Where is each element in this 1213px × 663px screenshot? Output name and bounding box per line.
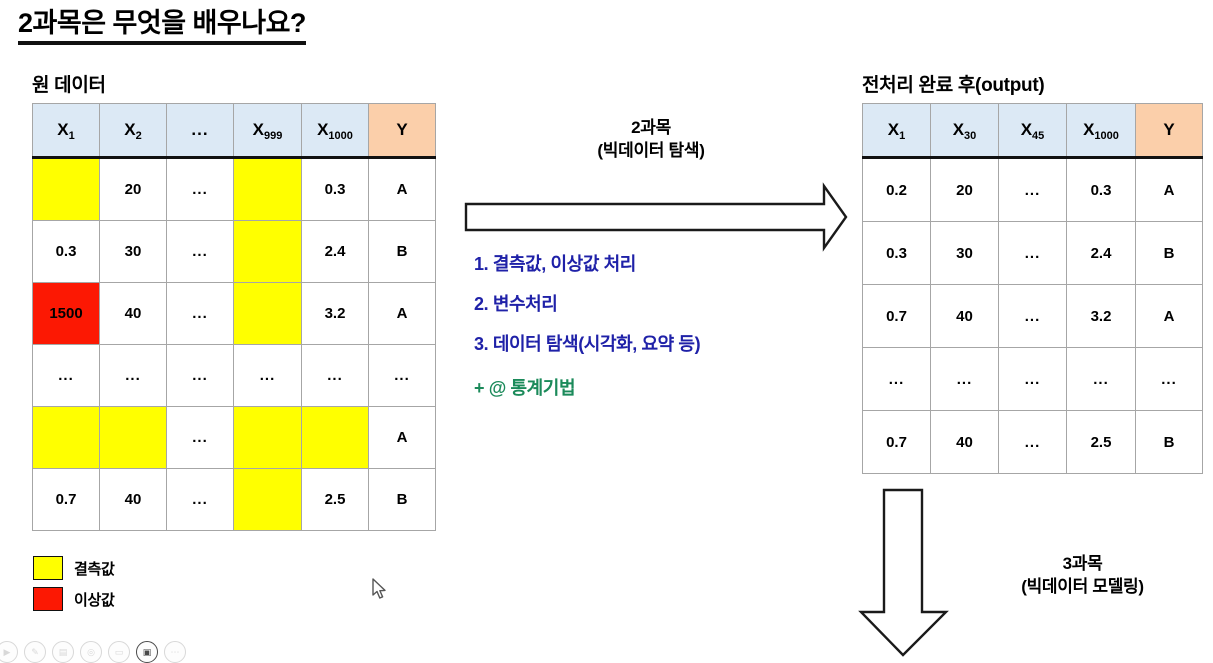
table-row: 0.7 40 ... 3.2 A bbox=[863, 285, 1203, 348]
table-cell: ... bbox=[931, 348, 999, 411]
table-cell: B bbox=[369, 221, 436, 283]
table-cell: ... bbox=[1067, 348, 1136, 411]
table-cell: ... bbox=[999, 285, 1067, 348]
header-sub: 1000 bbox=[328, 130, 352, 142]
process-step-2: 2. 변수처리 bbox=[474, 290, 874, 318]
table-cell: ... bbox=[302, 345, 369, 407]
column-header-ellipsis: ... bbox=[167, 104, 234, 158]
table-cell: 0.7 bbox=[33, 469, 100, 531]
table-cell: A bbox=[1136, 158, 1203, 222]
header-sub: 1 bbox=[899, 130, 905, 142]
header-sub: 1 bbox=[69, 130, 75, 142]
down-arrow-icon bbox=[856, 486, 966, 658]
table-cell: ... bbox=[167, 221, 234, 283]
column-header-y: Y bbox=[1136, 104, 1203, 158]
table-cell: ... bbox=[167, 345, 234, 407]
header-sub: 45 bbox=[1032, 130, 1044, 142]
page-title: 2과목은 무엇을 배우나요? bbox=[18, 6, 306, 45]
header-base: X bbox=[1083, 120, 1094, 139]
table-cell: 3.2 bbox=[1067, 285, 1136, 348]
pen-icon[interactable]: ✎ bbox=[24, 641, 46, 663]
process-step-1: 1. 결측값, 이상값 처리 bbox=[474, 250, 874, 278]
table-cell: 40 bbox=[100, 469, 167, 531]
column-header-x1000: X1000 bbox=[302, 104, 369, 158]
table-cell: 3.2 bbox=[302, 283, 369, 345]
modeling-arrow-label-line2: (빅데이터 모델링) bbox=[960, 575, 1205, 598]
table-cell: 20 bbox=[100, 158, 167, 221]
header-base: ... bbox=[191, 120, 208, 139]
table-cell: B bbox=[369, 469, 436, 531]
legend-label: 결측값 bbox=[74, 558, 115, 579]
table-cell bbox=[234, 283, 302, 345]
header-sub: 1000 bbox=[1094, 130, 1118, 142]
right-arrow-icon bbox=[462, 182, 850, 252]
legend-item-missing: 결측값 bbox=[33, 556, 115, 580]
table-row: 0.3 30 ... 2.4 B bbox=[863, 222, 1203, 285]
table-cell: 0.3 bbox=[302, 158, 369, 221]
play-icon[interactable]: ▶ bbox=[0, 641, 18, 663]
table-cell: ... bbox=[999, 348, 1067, 411]
table-row: 0.7 40 ... 2.5 B bbox=[863, 411, 1203, 474]
process-step-3: 3. 데이터 탐색(시각화, 요약 등) bbox=[474, 330, 874, 358]
column-header-x999: X999 bbox=[234, 104, 302, 158]
process-arrow-label: 2과목 (빅데이터 탐색) bbox=[516, 116, 786, 162]
table-cell: 2.5 bbox=[1067, 411, 1136, 474]
header-base: Y bbox=[396, 120, 407, 139]
table-cell: 0.7 bbox=[863, 285, 931, 348]
output-data-caption: 전처리 완료 후(output) bbox=[862, 70, 1044, 97]
process-arrow-label-line2: (빅데이터 탐색) bbox=[516, 139, 786, 162]
table-cell: B bbox=[1136, 222, 1203, 285]
subtitle-icon[interactable]: ▭ bbox=[108, 641, 130, 663]
table-row: 1500 40 ... 3.2 A bbox=[33, 283, 436, 345]
table-row: 0.2 20 ... 0.3 A bbox=[863, 158, 1203, 222]
legend-label: 이상값 bbox=[74, 589, 115, 610]
record-icon[interactable]: ◎ bbox=[80, 641, 102, 663]
table-cell bbox=[33, 407, 100, 469]
table-header-row: X1 X30 X45 X1000 Y bbox=[863, 104, 1203, 158]
legend-item-outlier: 이상값 bbox=[33, 587, 115, 611]
table-cell: 40 bbox=[931, 411, 999, 474]
header-base: X bbox=[888, 120, 899, 139]
header-sub: 999 bbox=[264, 130, 282, 142]
table-cell: 40 bbox=[100, 283, 167, 345]
header-base: X bbox=[124, 120, 135, 139]
table-cell: ... bbox=[863, 348, 931, 411]
process-step-extra: + @ 통계기법 bbox=[474, 374, 874, 402]
table-cell: 0.3 bbox=[33, 221, 100, 283]
table-cell bbox=[234, 469, 302, 531]
table-cell: 30 bbox=[931, 222, 999, 285]
save-icon[interactable]: ▤ bbox=[52, 641, 74, 663]
column-header-x1: X1 bbox=[863, 104, 931, 158]
mouse-cursor-icon bbox=[371, 578, 389, 602]
table-cell bbox=[33, 158, 100, 221]
header-base: Y bbox=[1163, 120, 1174, 139]
table-cell: 2.4 bbox=[302, 221, 369, 283]
more-icon[interactable]: ⋯ bbox=[164, 641, 186, 663]
modeling-arrow-label: 3과목 (빅데이터 모델링) bbox=[960, 552, 1205, 598]
header-base: X bbox=[317, 120, 328, 139]
table-cell: A bbox=[1136, 285, 1203, 348]
column-header-x1000: X1000 bbox=[1067, 104, 1136, 158]
header-base: X bbox=[253, 120, 264, 139]
table-cell: ... bbox=[234, 345, 302, 407]
table-cell: 0.2 bbox=[863, 158, 931, 222]
table-cell: ... bbox=[999, 158, 1067, 222]
table-row: ... ... ... ... ... ... bbox=[33, 345, 436, 407]
table-cell-outlier: 1500 bbox=[33, 283, 100, 345]
table-cell: 20 bbox=[931, 158, 999, 222]
table-cell bbox=[100, 407, 167, 469]
table-row: 0.7 40 ... 2.5 B bbox=[33, 469, 436, 531]
process-steps-list: 1. 결측값, 이상값 처리 2. 변수처리 3. 데이터 탐색(시각화, 요약… bbox=[474, 250, 874, 402]
video-camera-icon[interactable]: ▣ bbox=[136, 641, 158, 663]
table-row: ... ... ... ... ... bbox=[863, 348, 1203, 411]
bottom-toolbar[interactable]: ▶ ✎ ▤ ◎ ▭ ▣ ⋯ bbox=[0, 641, 186, 663]
header-sub: 2 bbox=[136, 130, 142, 142]
header-base: X bbox=[1021, 120, 1032, 139]
table-row: ... A bbox=[33, 407, 436, 469]
raw-data-table: X1 X2 ... X999 X1000 Y 20 ... 0.3 A 0.3 … bbox=[32, 103, 436, 531]
table-row: 20 ... 0.3 A bbox=[33, 158, 436, 221]
output-data-table: X1 X30 X45 X1000 Y 0.2 20 ... 0.3 A 0.3 … bbox=[862, 103, 1203, 474]
table-cell: 0.3 bbox=[1067, 158, 1136, 222]
table-cell: 30 bbox=[100, 221, 167, 283]
table-header-row: X1 X2 ... X999 X1000 Y bbox=[33, 104, 436, 158]
table-cell: ... bbox=[1136, 348, 1203, 411]
table-cell: 2.5 bbox=[302, 469, 369, 531]
column-header-x45: X45 bbox=[999, 104, 1067, 158]
table-cell: ... bbox=[167, 158, 234, 221]
table-row: 0.3 30 ... 2.4 B bbox=[33, 221, 436, 283]
table-cell: ... bbox=[167, 283, 234, 345]
table-cell: 0.7 bbox=[863, 411, 931, 474]
column-header-x1: X1 bbox=[33, 104, 100, 158]
table-cell: ... bbox=[999, 222, 1067, 285]
table-cell: ... bbox=[33, 345, 100, 407]
table-cell: ... bbox=[999, 411, 1067, 474]
modeling-arrow-label-line1: 3과목 bbox=[960, 552, 1205, 575]
raw-data-caption: 원 데이터 bbox=[32, 70, 106, 97]
table-cell: ... bbox=[369, 345, 436, 407]
table-cell: 0.3 bbox=[863, 222, 931, 285]
legend: 결측값 이상값 bbox=[33, 556, 115, 618]
table-cell: B bbox=[1136, 411, 1203, 474]
table-cell bbox=[234, 407, 302, 469]
table-cell: A bbox=[369, 407, 436, 469]
missing-value-swatch bbox=[33, 556, 63, 580]
table-cell: ... bbox=[100, 345, 167, 407]
header-base: X bbox=[953, 120, 964, 139]
outlier-swatch bbox=[33, 587, 63, 611]
header-base: X bbox=[57, 120, 68, 139]
column-header-x2: X2 bbox=[100, 104, 167, 158]
table-cell bbox=[234, 221, 302, 283]
table-cell: 2.4 bbox=[1067, 222, 1136, 285]
table-cell: A bbox=[369, 158, 436, 221]
column-header-y: Y bbox=[369, 104, 436, 158]
process-arrow-label-line1: 2과목 bbox=[516, 116, 786, 139]
header-sub: 30 bbox=[964, 130, 976, 142]
table-cell bbox=[302, 407, 369, 469]
column-header-x30: X30 bbox=[931, 104, 999, 158]
table-cell: ... bbox=[167, 469, 234, 531]
table-cell: ... bbox=[167, 407, 234, 469]
table-cell: 40 bbox=[931, 285, 999, 348]
table-cell: A bbox=[369, 283, 436, 345]
table-cell bbox=[234, 158, 302, 221]
